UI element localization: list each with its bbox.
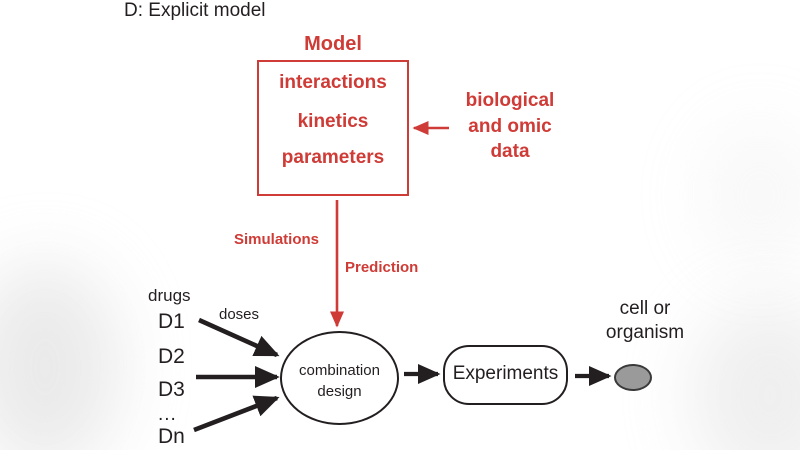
background-blur-left bbox=[0, 262, 120, 450]
drug-input-d3: D3 bbox=[158, 378, 185, 402]
model-component-parameters: parameters bbox=[257, 147, 409, 169]
background-blur-right-upper bbox=[700, 120, 800, 270]
simulations-label: Simulations bbox=[234, 231, 319, 249]
model-component-interactions: interactions bbox=[257, 72, 409, 94]
drug-input-d1: D1 bbox=[158, 310, 185, 334]
model-title: Model bbox=[257, 33, 409, 57]
biological-omic-data-label: biological and omic data bbox=[451, 88, 569, 165]
diagram-canvas: D: Explicit model Model interactions kin… bbox=[0, 0, 800, 450]
drug-input-dn: Dn bbox=[158, 425, 185, 449]
drug-input-d2: D2 bbox=[158, 345, 185, 369]
arrow-d1-to-combination bbox=[199, 320, 277, 355]
cell-or-organism-label: cell or organism bbox=[592, 297, 698, 346]
drugs-group-label: drugs bbox=[148, 286, 191, 306]
prediction-label: Prediction bbox=[345, 259, 418, 277]
drug-input-ellipsis: ... bbox=[158, 404, 177, 426]
experiments-label: Experiments bbox=[443, 363, 568, 385]
panel-caption: D: Explicit model bbox=[124, 0, 266, 22]
model-component-kinetics: kinetics bbox=[257, 111, 409, 133]
arrow-dn-to-combination bbox=[194, 398, 277, 430]
cell-organism-icon bbox=[614, 364, 652, 391]
combination-design-label: combination design bbox=[280, 361, 399, 402]
background-blur-right bbox=[690, 300, 800, 450]
doses-label: doses bbox=[219, 306, 259, 324]
